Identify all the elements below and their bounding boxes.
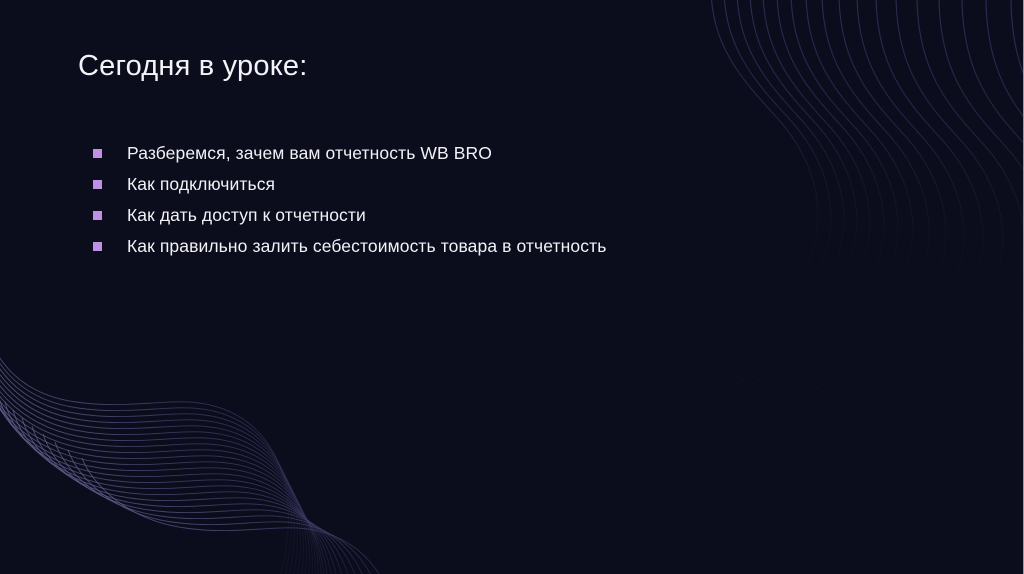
square-bullet-icon bbox=[93, 242, 102, 251]
ribbon-lines-bottom-left bbox=[0, 284, 400, 574]
list-item: Как правильно залить себестоимость товар… bbox=[93, 231, 606, 262]
list-item: Как подключиться bbox=[93, 169, 606, 200]
list-item: Как дать доступ к отчетности bbox=[93, 200, 606, 231]
list-item: Разберемся, зачем вам отчетность WB BRO bbox=[93, 138, 606, 169]
list-item-label: Как правильно залить себестоимость товар… bbox=[127, 231, 606, 262]
list-item-label: Разберемся, зачем вам отчетность WB BRO bbox=[127, 138, 492, 169]
square-bullet-icon bbox=[93, 211, 102, 220]
square-bullet-icon bbox=[93, 149, 102, 158]
presentation-slide: Сегодня в уроке: Разберемся, зачем вам о… bbox=[0, 0, 1024, 574]
list-item-label: Как подключиться bbox=[127, 169, 275, 200]
square-bullet-icon bbox=[93, 180, 102, 189]
agenda-list: Разберемся, зачем вам отчетность WB BRO … bbox=[93, 138, 606, 262]
wave-lines-top-right bbox=[593, 0, 1024, 390]
page-title: Сегодня в уроке: bbox=[78, 50, 308, 83]
background-decoration bbox=[0, 0, 1023, 574]
list-item-label: Как дать доступ к отчетности bbox=[127, 200, 366, 231]
